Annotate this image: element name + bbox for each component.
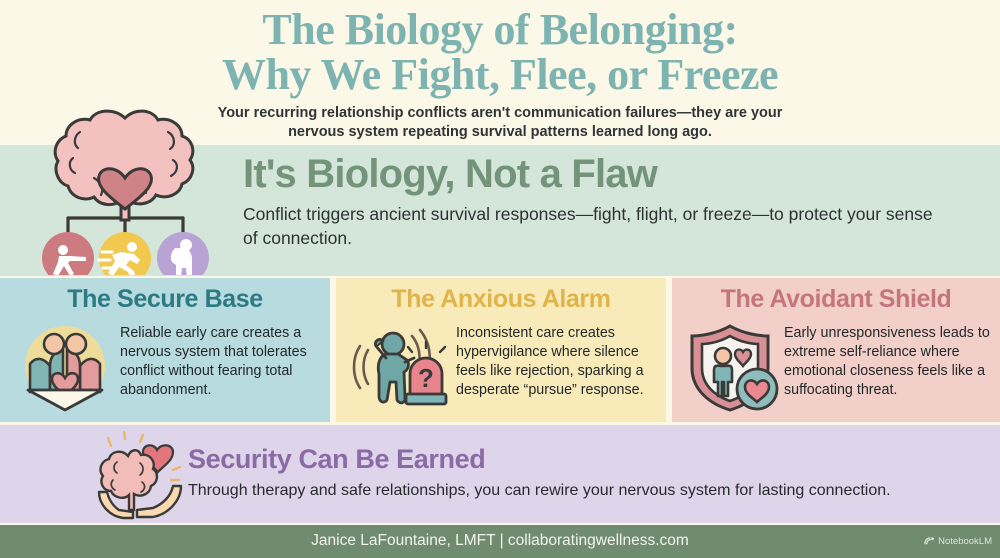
card-body: Reliable early care creates a nervous sy… — [120, 324, 320, 401]
card-anxious-alarm: The Anxious Alarm ? — [336, 278, 666, 422]
header-subtitle: Your recurring relationship conflicts ar… — [213, 104, 787, 142]
hands-cradling-brain-heart-icon — [95, 430, 213, 522]
security-earned-title: Security Can Be Earned — [188, 444, 485, 475]
footer-section: Janice LaFountaine, LMFT | collaborating… — [0, 525, 1000, 558]
attachment-style-cards: The Secure Base Reliable early care crea… — [0, 278, 1000, 422]
two-figures-embracing-heart-icon — [10, 320, 120, 412]
brain-responses-diagram — [18, 100, 233, 275]
biology-band-content: It's Biology, Not a Flaw Conflict trigge… — [243, 153, 973, 250]
title-line-1: The Biology of Belonging: — [0, 8, 1000, 53]
freeze-hunched-figure-icon — [157, 232, 209, 275]
notebooklm-badge-label: NotebookLM — [938, 536, 992, 547]
fight-figure-icon — [42, 232, 94, 275]
card-secure-base: The Secure Base Reliable early care crea… — [0, 278, 330, 422]
svg-text:?: ? — [418, 363, 434, 393]
flight-running-figure-icon — [99, 232, 151, 275]
card-body: Early unresponsiveness leads to extreme … — [784, 324, 994, 401]
alarmed-figure-siren-question-icon: ? — [346, 320, 456, 412]
infographic-page: The Biology of Belonging: Why We Fight, … — [0, 0, 1000, 558]
notebooklm-badge: NotebookLM — [924, 536, 992, 547]
brain-with-heart-icon — [55, 111, 193, 220]
biology-band-text: Conflict triggers ancient survival respo… — [243, 203, 943, 250]
page-title: The Biology of Belonging: Why We Fight, … — [0, 8, 1000, 98]
security-earned-text: Through therapy and safe relationships, … — [188, 481, 978, 502]
shield-with-figure-heart-icon — [680, 320, 790, 412]
card-title: The Avoidant Shield — [672, 285, 1000, 314]
card-title: The Secure Base — [0, 285, 330, 314]
title-line-2: Why We Fight, Flee, or Freeze — [0, 53, 1000, 98]
footer-credit[interactable]: Janice LaFountaine, LMFT | collaborating… — [0, 532, 1000, 550]
card-avoidant-shield: The Avoidant Shield Early unresponsivene… — [672, 278, 1000, 422]
notebooklm-logo-icon — [924, 536, 935, 547]
card-title: The Anxious Alarm — [336, 285, 666, 314]
biology-band-title: It's Biology, Not a Flaw — [243, 153, 973, 195]
card-body: Inconsistent care creates hypervigilance… — [456, 324, 656, 401]
